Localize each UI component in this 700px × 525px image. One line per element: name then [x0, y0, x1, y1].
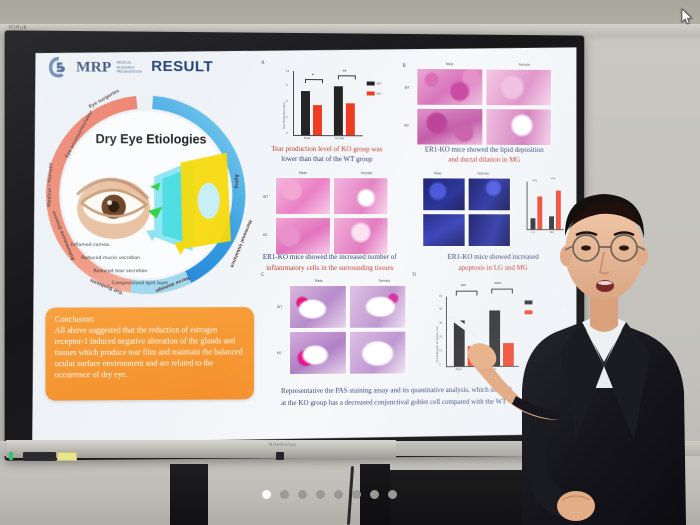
slide-title: RESULT — [151, 58, 213, 76]
panel-e-row-ko: KO — [277, 351, 281, 355]
panel-c-letter: C — [261, 273, 264, 278]
chart-e-sig-bracket-1 — [456, 291, 478, 296]
pagination-dots[interactable] — [262, 490, 397, 499]
pagination-dot-7[interactable] — [370, 490, 379, 499]
panel-c-col-male: Male — [299, 171, 307, 175]
chart-a-sig-bracket-2 — [338, 75, 356, 79]
panel-b-row-ko: KO — [404, 124, 408, 128]
mrp-logo-icon — [47, 55, 71, 79]
figure-title: Dry Eye Etiologies — [75, 132, 227, 147]
panel-b-tile-ko-male — [416, 108, 483, 146]
panel-d-letter: D — [412, 273, 416, 278]
power-led-indicator — [9, 452, 13, 460]
dry-eye-etiologies-figure: Dry Eye Etiologies Eye surgeries Eye acc… — [40, 89, 251, 299]
panel-d-tile-1 — [422, 177, 465, 211]
chart-a-tick-1: 3 — [286, 116, 288, 119]
ring-label-aging: Aging — [234, 174, 239, 188]
pagination-dot-4[interactable] — [316, 490, 325, 499]
panel-a-caption-line2: lower than that of the WT group — [257, 155, 397, 165]
etiologies-ring-graphic — [40, 89, 251, 299]
inner-label-inflamed-cornea: Inflamed cornea — [71, 243, 109, 248]
chart-a-cat-0: Male — [304, 137, 310, 140]
chart-e-sig-1: *** — [461, 284, 466, 288]
chart-a-legend-swatch-ko — [367, 91, 375, 95]
display-oem-label: HiteVision — [269, 443, 297, 448]
panel-c-caption-line2: inflammatory cells in the surrounding ti… — [251, 264, 408, 274]
pagination-dot-2[interactable] — [280, 490, 289, 499]
panel-e-images: Male Female WT KO — [275, 279, 414, 385]
chart-a-sig-2: ** — [343, 69, 347, 73]
panel-c-tile-ko-female — [333, 217, 389, 255]
chart-a-tick-3: 9 — [286, 84, 288, 87]
panel-d-tile-3 — [422, 213, 465, 247]
panel-d-tile-4 — [468, 213, 511, 247]
furniture-panel-left — [170, 464, 208, 525]
slide-logo: MRP MEDICAL RESEARCH PRESENTATION — [47, 55, 147, 80]
panel-b-tile-wt-male — [416, 68, 483, 106]
panel-c-row-ko: KO — [263, 233, 267, 237]
chart-a-cat-1: Female — [335, 137, 344, 140]
chart-a-tick-4: 12 — [286, 70, 289, 73]
ir-sensor — [276, 452, 284, 460]
logo-subtext: MEDICAL RESEARCH PRESENTATION — [117, 61, 147, 75]
panel-d-col-1: Male — [434, 171, 441, 175]
display-warning-label — [57, 452, 77, 461]
panel-e-tile-ko-female — [349, 331, 407, 375]
panel-a-caption-line1: Tear production level of KO group was — [257, 145, 397, 155]
panel-e-row-wt: WT — [277, 305, 282, 309]
panel-a-letter: A — [261, 61, 265, 66]
panel-b-col-male: Male — [446, 62, 453, 66]
panel-e-col-male: Male — [315, 279, 323, 283]
panel-b-col-female: Female — [519, 63, 530, 67]
pagination-dot-6[interactable] — [352, 490, 361, 499]
chart-a-legend-swatch-wt — [367, 81, 375, 85]
chart-e-sig-2: **** — [494, 282, 501, 286]
panel-c-tile-wt-male — [275, 177, 331, 215]
chart-a-legend-label-ko: KO — [377, 92, 381, 96]
pagination-dot-8[interactable] — [388, 490, 397, 499]
display-control-panel[interactable] — [23, 452, 56, 461]
panel-c-caption-line1: ER1-KO mice showed the increased number … — [251, 253, 408, 263]
pagination-dot-5[interactable] — [334, 490, 343, 499]
chart-a-sig-bracket-1 — [305, 79, 323, 83]
panel-e-col-female: Female — [379, 279, 390, 283]
panel-c-tile-ko-male — [275, 217, 331, 255]
panel-b-letter: B — [402, 64, 405, 69]
panel-d-col-2: Female — [477, 172, 488, 176]
presenter-pointing-arm — [430, 300, 560, 420]
inner-label-reduced-tear: Reduced tear secretion — [93, 269, 147, 274]
panel-b-row-wt: WT — [404, 86, 409, 90]
chart-a: Tear Production (mm) 0 3 6 9 12 — [275, 67, 387, 148]
chart-e-sig-bracket-2 — [491, 289, 513, 294]
chart-e-tick-5: 50 — [439, 295, 442, 298]
panel-e-tile-wt-male — [289, 285, 347, 329]
chart-a-legend-label-wt: WT — [377, 82, 382, 86]
chart-a-bar-ko-female — [346, 103, 355, 135]
chart-a-bar-ko-male — [313, 105, 322, 135]
inner-label-reduced-mucin: Reduced mucin secretion — [81, 256, 140, 261]
panel-e-tile-wt-female — [349, 285, 407, 329]
conclusion-body: All above suggested that the reduction o… — [55, 324, 245, 380]
chart-a-tick-0: 0 — [286, 132, 288, 135]
screenshot-root: HiHub MRP MEDICAL RESEARCH PRESENTATION … — [0, 0, 700, 525]
panel-c-row-wt: WT — [263, 195, 268, 199]
conclusion-box: Conclusion: All above suggested that the… — [45, 307, 253, 401]
panel-c-col-female: Female — [361, 171, 372, 175]
mouse-pointer-icon — [681, 8, 693, 25]
pagination-dot-1[interactable] — [262, 490, 271, 499]
logo-wordmark: MRP — [76, 59, 111, 76]
chart-a-tick-2: 6 — [286, 100, 288, 103]
inner-label-lipid-layer: Compromised lipid layer — [112, 281, 169, 286]
panel-e-tile-ko-male — [289, 331, 347, 375]
chart-a-sig-1: * — [312, 73, 314, 77]
panel-c-tile-wt-female — [333, 177, 389, 215]
panel-b-tile-wt-female — [485, 68, 552, 106]
chart-a-bar-wt-male — [301, 91, 310, 135]
conclusion-heading: Conclusion: — [55, 314, 245, 324]
panel-c-images: Male Female WT KO — [261, 171, 401, 263]
chart-a-bar-wt-female — [334, 86, 343, 135]
panel-d-tile-2 — [468, 177, 511, 211]
pagination-dot-3[interactable] — [298, 490, 307, 499]
panel-a: A Tear Production (mm) 0 3 6 9 12 — [261, 61, 391, 154]
